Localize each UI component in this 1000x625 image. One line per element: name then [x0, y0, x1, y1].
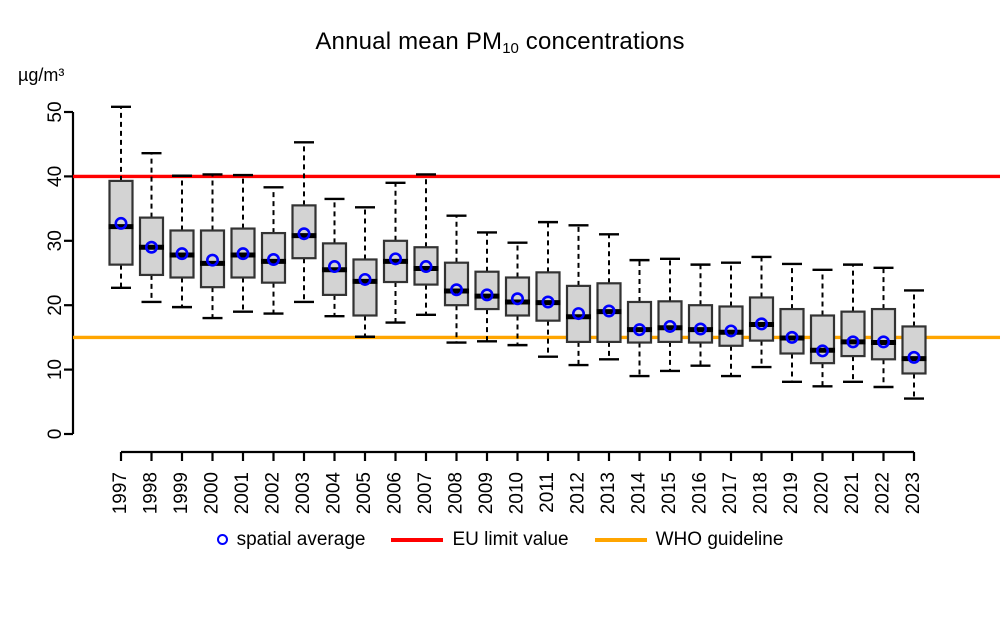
- circle-marker-icon: [217, 534, 228, 545]
- boxplot-2002: [261, 187, 286, 313]
- x-tick-label-2011: 2011: [537, 472, 558, 513]
- boxplot-2012: [566, 225, 591, 365]
- x-tick-label-1997: 1997: [110, 472, 131, 514]
- boxplot-1999: [170, 176, 195, 307]
- box-iqr: [506, 278, 529, 316]
- boxplot-2013: [597, 234, 622, 359]
- boxplot-1997: [109, 107, 134, 288]
- boxplot-series-layer: [109, 107, 927, 399]
- boxplot-2003: [292, 142, 317, 302]
- x-tick-label-2015: 2015: [659, 472, 680, 514]
- box-iqr: [628, 302, 651, 343]
- box-iqr: [110, 181, 133, 265]
- x-tick-label-2009: 2009: [476, 472, 497, 514]
- x-tick-labels-layer: 1997199819992000200120022003200420052006…: [110, 472, 924, 515]
- x-tick-label-2010: 2010: [507, 472, 528, 514]
- boxplot-2006: [383, 183, 408, 323]
- legend-item-who-guideline: WHO guideline: [595, 530, 784, 549]
- box-iqr: [903, 326, 926, 373]
- line-swatch-icon-who: [595, 538, 647, 542]
- x-tick-label-2018: 2018: [751, 472, 772, 514]
- y-tick-labels-layer: 01020304050: [45, 101, 66, 439]
- box-iqr: [567, 286, 590, 342]
- boxplot-2017: [719, 263, 744, 376]
- x-tick-label-2014: 2014: [629, 472, 650, 515]
- x-tick-label-2013: 2013: [598, 472, 619, 514]
- boxplot-2018: [749, 257, 774, 367]
- x-tick-label-2005: 2005: [354, 472, 375, 514]
- x-tick-label-2019: 2019: [781, 472, 802, 514]
- box-iqr: [262, 233, 285, 283]
- box-iqr: [842, 312, 865, 356]
- x-tick-label-2012: 2012: [568, 472, 589, 514]
- x-tick-label-2006: 2006: [385, 472, 406, 514]
- boxplot-2005: [353, 207, 378, 336]
- y-tick-label: 50: [45, 101, 66, 122]
- x-tick-label-2022: 2022: [873, 472, 894, 514]
- x-tick-label-2023: 2023: [903, 472, 924, 514]
- legend-item-spatial-average: spatial average: [217, 530, 366, 549]
- y-tick-label: 40: [45, 166, 66, 187]
- boxplot-2021: [841, 265, 866, 382]
- x-tick-label-2003: 2003: [293, 472, 314, 514]
- y-tick-label: 10: [45, 359, 66, 380]
- y-tick-label: 30: [45, 230, 66, 251]
- legend-label-who-guideline: WHO guideline: [656, 530, 784, 549]
- legend-label-eu-limit-value: EU limit value: [452, 530, 568, 549]
- y-tick-label: 0: [45, 429, 66, 440]
- boxplot-2004: [322, 199, 347, 316]
- boxplot-2014: [627, 260, 652, 376]
- x-tick-label-2017: 2017: [720, 472, 741, 514]
- x-tick-label-1998: 1998: [141, 472, 162, 514]
- x-tick-label-2021: 2021: [842, 472, 863, 514]
- boxplot-2020: [810, 270, 835, 387]
- box-iqr: [354, 259, 377, 315]
- boxplot-2015: [658, 259, 683, 371]
- boxplot-2009: [475, 232, 500, 341]
- box-iqr: [201, 230, 224, 287]
- legend-label-spatial-average: spatial average: [237, 530, 366, 549]
- boxplot-2007: [414, 174, 439, 314]
- boxplot-2016: [688, 265, 713, 366]
- boxplot-2019: [780, 264, 805, 382]
- boxplot-2008: [444, 216, 469, 343]
- box-iqr: [293, 205, 316, 258]
- boxplot-2000: [200, 174, 225, 318]
- boxplot-2010: [505, 243, 530, 345]
- x-tick-label-1999: 1999: [171, 472, 192, 514]
- x-tick-label-2001: 2001: [232, 472, 253, 514]
- box-iqr: [872, 309, 895, 359]
- legend-item-eu-limit-value: EU limit value: [391, 530, 568, 549]
- chart-page: Annual mean PM10 concentrations µg/m³ 19…: [0, 0, 1000, 625]
- boxplot-2023: [902, 290, 927, 398]
- box-iqr: [415, 247, 438, 284]
- x-tick-label-2008: 2008: [446, 472, 467, 514]
- x-tick-label-2020: 2020: [812, 472, 833, 514]
- x-tick-label-2016: 2016: [690, 472, 711, 514]
- x-tick-label-2007: 2007: [415, 472, 436, 514]
- x-tick-label-2002: 2002: [263, 472, 284, 514]
- boxplot-2022: [871, 268, 896, 387]
- x-tick-label-2000: 2000: [202, 472, 223, 514]
- boxplot-2001: [231, 175, 256, 312]
- x-tick-label-2004: 2004: [324, 472, 345, 515]
- line-swatch-icon-eu: [391, 538, 443, 542]
- chart-legend: spatial average EU limit value WHO guide…: [0, 530, 1000, 549]
- y-tick-label: 20: [45, 295, 66, 316]
